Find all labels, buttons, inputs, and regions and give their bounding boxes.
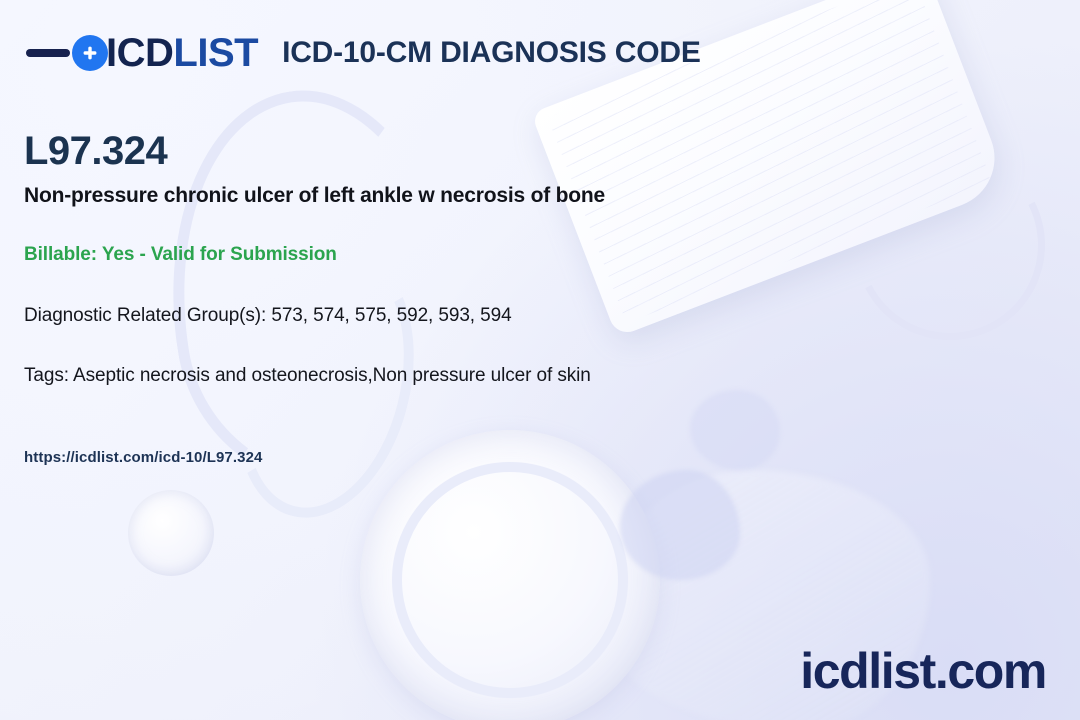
logo-word-icd: ICD [106,31,173,75]
page-title: ICD-10-CM DIAGNOSIS CODE [282,38,701,68]
tag-list: Tags: Aseptic necrosis and osteonecrosis… [24,365,1056,387]
page-header: ICDLIST ICD-10-CM DIAGNOSIS CODE [24,24,1056,82]
code-details: L97.324 Non-pressure chronic ulcer of le… [24,82,1056,466]
billable-status: Billable: Yes - Valid for Submission [24,244,1056,266]
page-root: ICDLIST ICD-10-CM DIAGNOSIS CODE L97.324… [0,0,1080,720]
source-url[interactable]: https://icdlist.com/icd-10/L97.324 [24,449,1056,466]
icdlist-logo[interactable]: ICDLIST [26,33,258,73]
dash-icon [26,49,70,57]
diagnosis-description: Non-pressure chronic ulcer of left ankle… [24,184,1056,208]
site-watermark: icdlist.com [800,646,1046,696]
diagnosis-code: L97.324 [24,130,1056,172]
plus-icon [72,35,108,71]
drg-list: Diagnostic Related Group(s): 573, 574, 5… [24,305,1056,327]
logo-word-list: LIST [173,31,258,75]
